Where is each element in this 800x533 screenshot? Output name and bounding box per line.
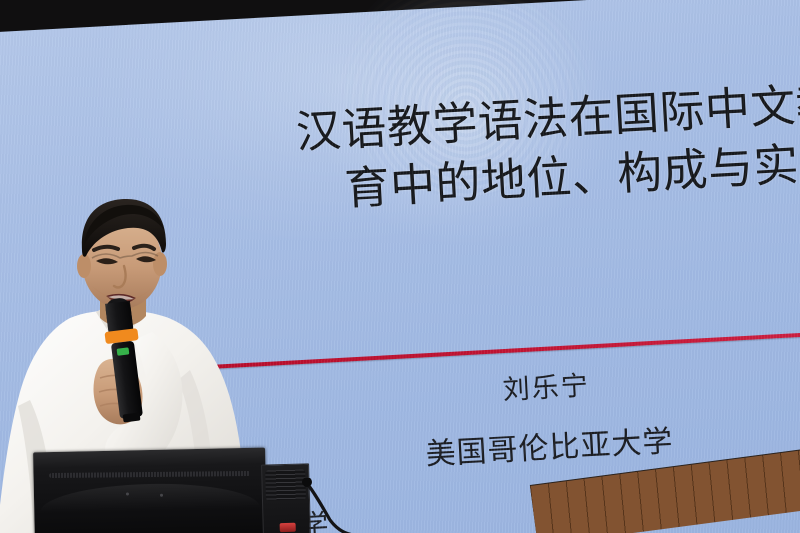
slide-presenter-name: 刘乐宁 xyxy=(306,360,787,417)
slide-title: 汉语教学语法在国际中文教 育中的地位、构成与实施 xyxy=(161,74,800,228)
monitor-screw xyxy=(126,492,129,495)
monitor-vent xyxy=(50,471,250,478)
monitor-back xyxy=(33,448,267,533)
monitor-screw xyxy=(160,494,163,497)
lecture-photo-scene: 汉语教学语法在国际中文教 育中的地位、构成与实施 刘乐宁 美国哥伦比亚大学 师范… xyxy=(0,0,800,533)
podium-indicator xyxy=(280,523,296,532)
gooseneck-stem xyxy=(306,482,354,533)
gooseneck-microphone xyxy=(300,478,360,533)
monitor-sheen xyxy=(40,482,260,513)
